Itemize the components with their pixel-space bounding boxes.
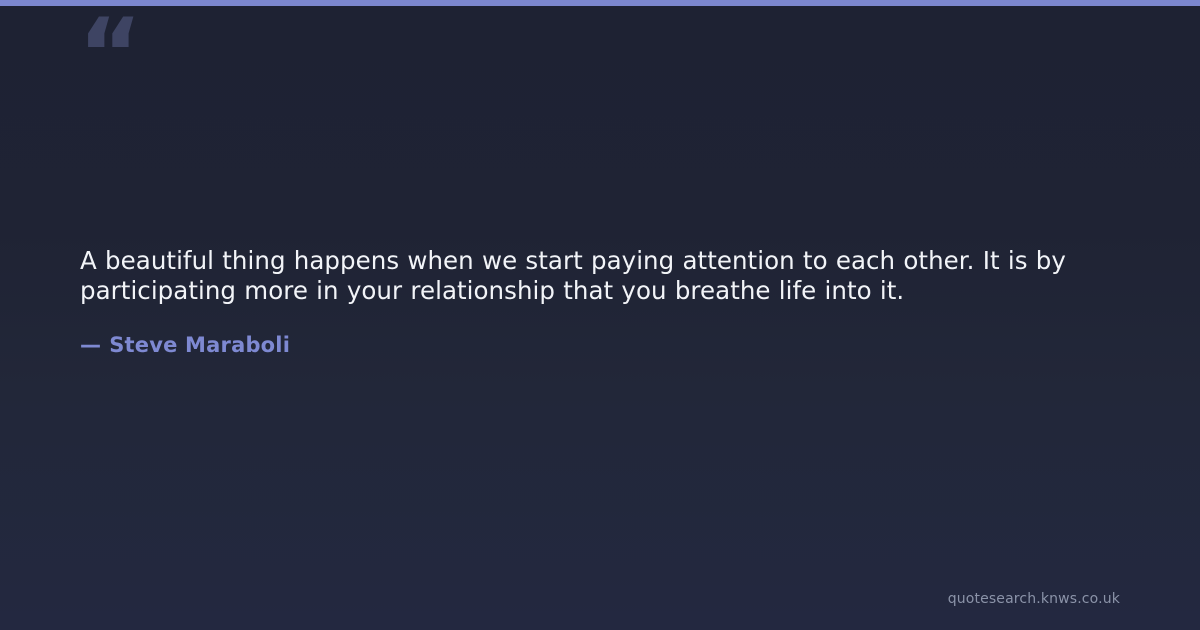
quote-text: A beautiful thing happens when we start … — [80, 246, 1122, 306]
author-name: Steve Maraboli — [109, 333, 290, 357]
top-accent-bar — [0, 0, 1200, 6]
quote-content: A beautiful thing happens when we start … — [80, 246, 1122, 358]
site-watermark: quotesearch.knws.co.uk — [948, 590, 1120, 608]
quotation-mark-icon: “ — [78, 6, 140, 104]
author-dash: — — [80, 332, 101, 358]
quote-author: —Steve Maraboli — [80, 306, 1122, 358]
quote-card: “ A beautiful thing happens when we star… — [0, 0, 1200, 630]
